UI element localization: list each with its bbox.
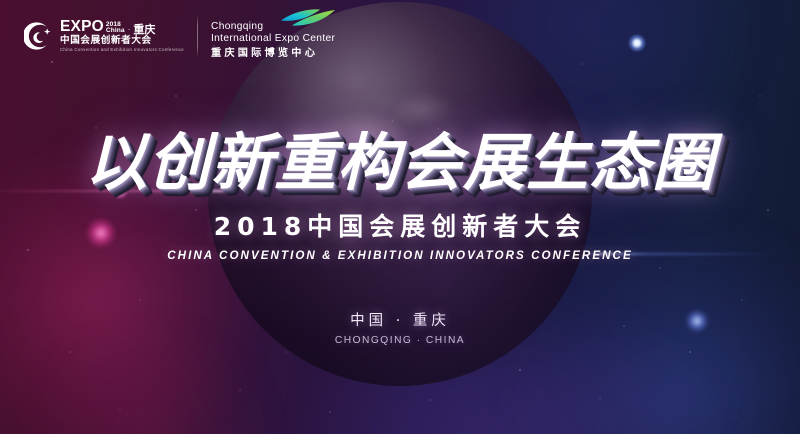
hero-subtitle-english: CHINA CONVENTION & EXHIBITION INNOVATORS… [0,250,800,262]
location-block: 中国 · 重庆 CHONGQING · CHINA [0,314,800,346]
expo-separator-dot: · [128,26,131,34]
expo-center-logo[interactable]: Chongqing International Expo Center 重庆国际… [211,12,335,60]
expo-english-name: China Convention and Exhibition Innovato… [60,48,184,52]
page-title: 以创新重构会展生态圈 [0,132,800,194]
expo-country: China [106,28,125,35]
expo-conference-logo[interactable]: EXPO 2018 China · 重庆 中国会展创新者大会 China Con… [24,19,184,52]
expo-chinese-name: 中国会展创新者大会 [60,36,184,46]
expo-center-wing-icon [279,7,337,29]
location-chinese: 中国 · 重庆 [0,314,800,329]
expo-logo-text: EXPO 2018 China · 重庆 中国会展创新者大会 China Con… [60,19,184,52]
expo-year-country: 2018 China [106,22,125,35]
logo-divider [197,15,198,57]
hero-copy: 以创新重构会展生态圈 2018中国会展创新者大会 CHINA CONVENTIO… [0,132,800,262]
expo-word: EXPO [60,19,104,35]
location-english: CHONGQING · CHINA [0,336,800,346]
expo-center-english-line2: International Expo Center [211,33,335,45]
hero-subtitle-chinese: 2018中国会展创新者大会 [0,214,800,239]
expo-logo-primary-row: EXPO 2018 China · 重庆 [60,19,184,35]
expo-center-chinese-name: 重庆国际博览中心 [211,47,335,60]
logo-bar: EXPO 2018 China · 重庆 中国会展创新者大会 China Con… [24,12,335,60]
expo-crescent-star-icon [24,21,54,51]
conference-poster: EXPO 2018 China · 重庆 中国会展创新者大会 China Con… [0,0,800,434]
